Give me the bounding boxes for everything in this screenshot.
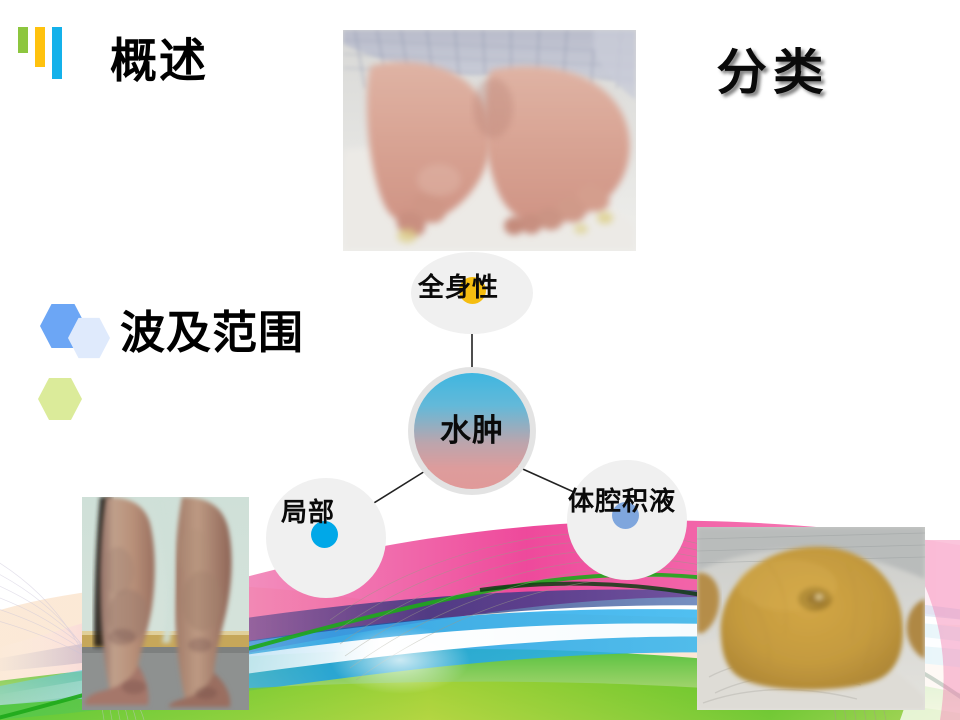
edema-classification-diagram: 全身性 局部 体腔积液 水肿 [0,0,960,720]
diagram-center-node: 水肿 [414,373,530,489]
slide-canvas: 概述 分类 波及范围 [0,0,960,720]
node-label-systemic: 全身性 [418,275,499,301]
diagram-center-label: 水肿 [440,416,504,447]
node-label-cavity: 体腔积液 [568,489,676,515]
node-label-local: 局部 [281,500,335,526]
